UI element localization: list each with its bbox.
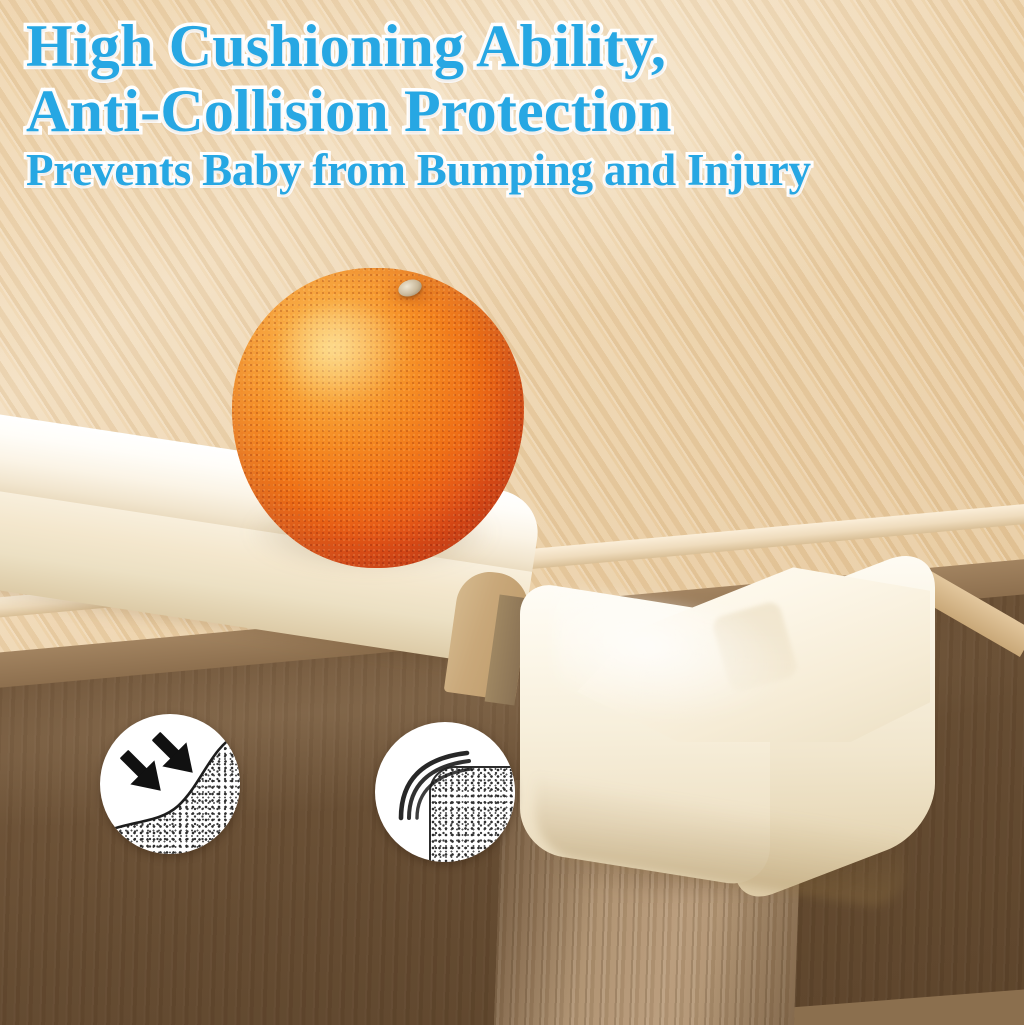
headline-line-1: High Cushioning Ability, <box>26 16 1006 77</box>
foam-stipple-region <box>100 714 240 854</box>
orange-gloss-highlight <box>278 304 408 409</box>
feature-badge-absorbs-impacts: Absorbs Impacts <box>100 714 240 854</box>
orange-fruit <box>232 268 524 568</box>
downward-impact-arrows-on-foam-icon <box>100 714 240 854</box>
rebound-motion-arcs-icon <box>375 722 515 862</box>
impact-arrow-group <box>112 724 205 803</box>
feature-badge-rebounds-quickly: Rebounds Quickly <box>375 722 515 862</box>
product-marketing-image: High Cushioning Ability, Anti-Collision … <box>0 0 1024 1025</box>
foam-corner-guard <box>515 562 955 912</box>
headline-line-3: Prevents Baby from Bumping and Injury <box>26 148 1006 194</box>
headline-block: High Cushioning Ability, Anti-Collision … <box>26 16 1006 194</box>
headline-line-2: Anti-Collision Protection <box>26 81 1006 142</box>
rebound-motion-arcs-on-foam-corner-icon <box>375 722 515 862</box>
